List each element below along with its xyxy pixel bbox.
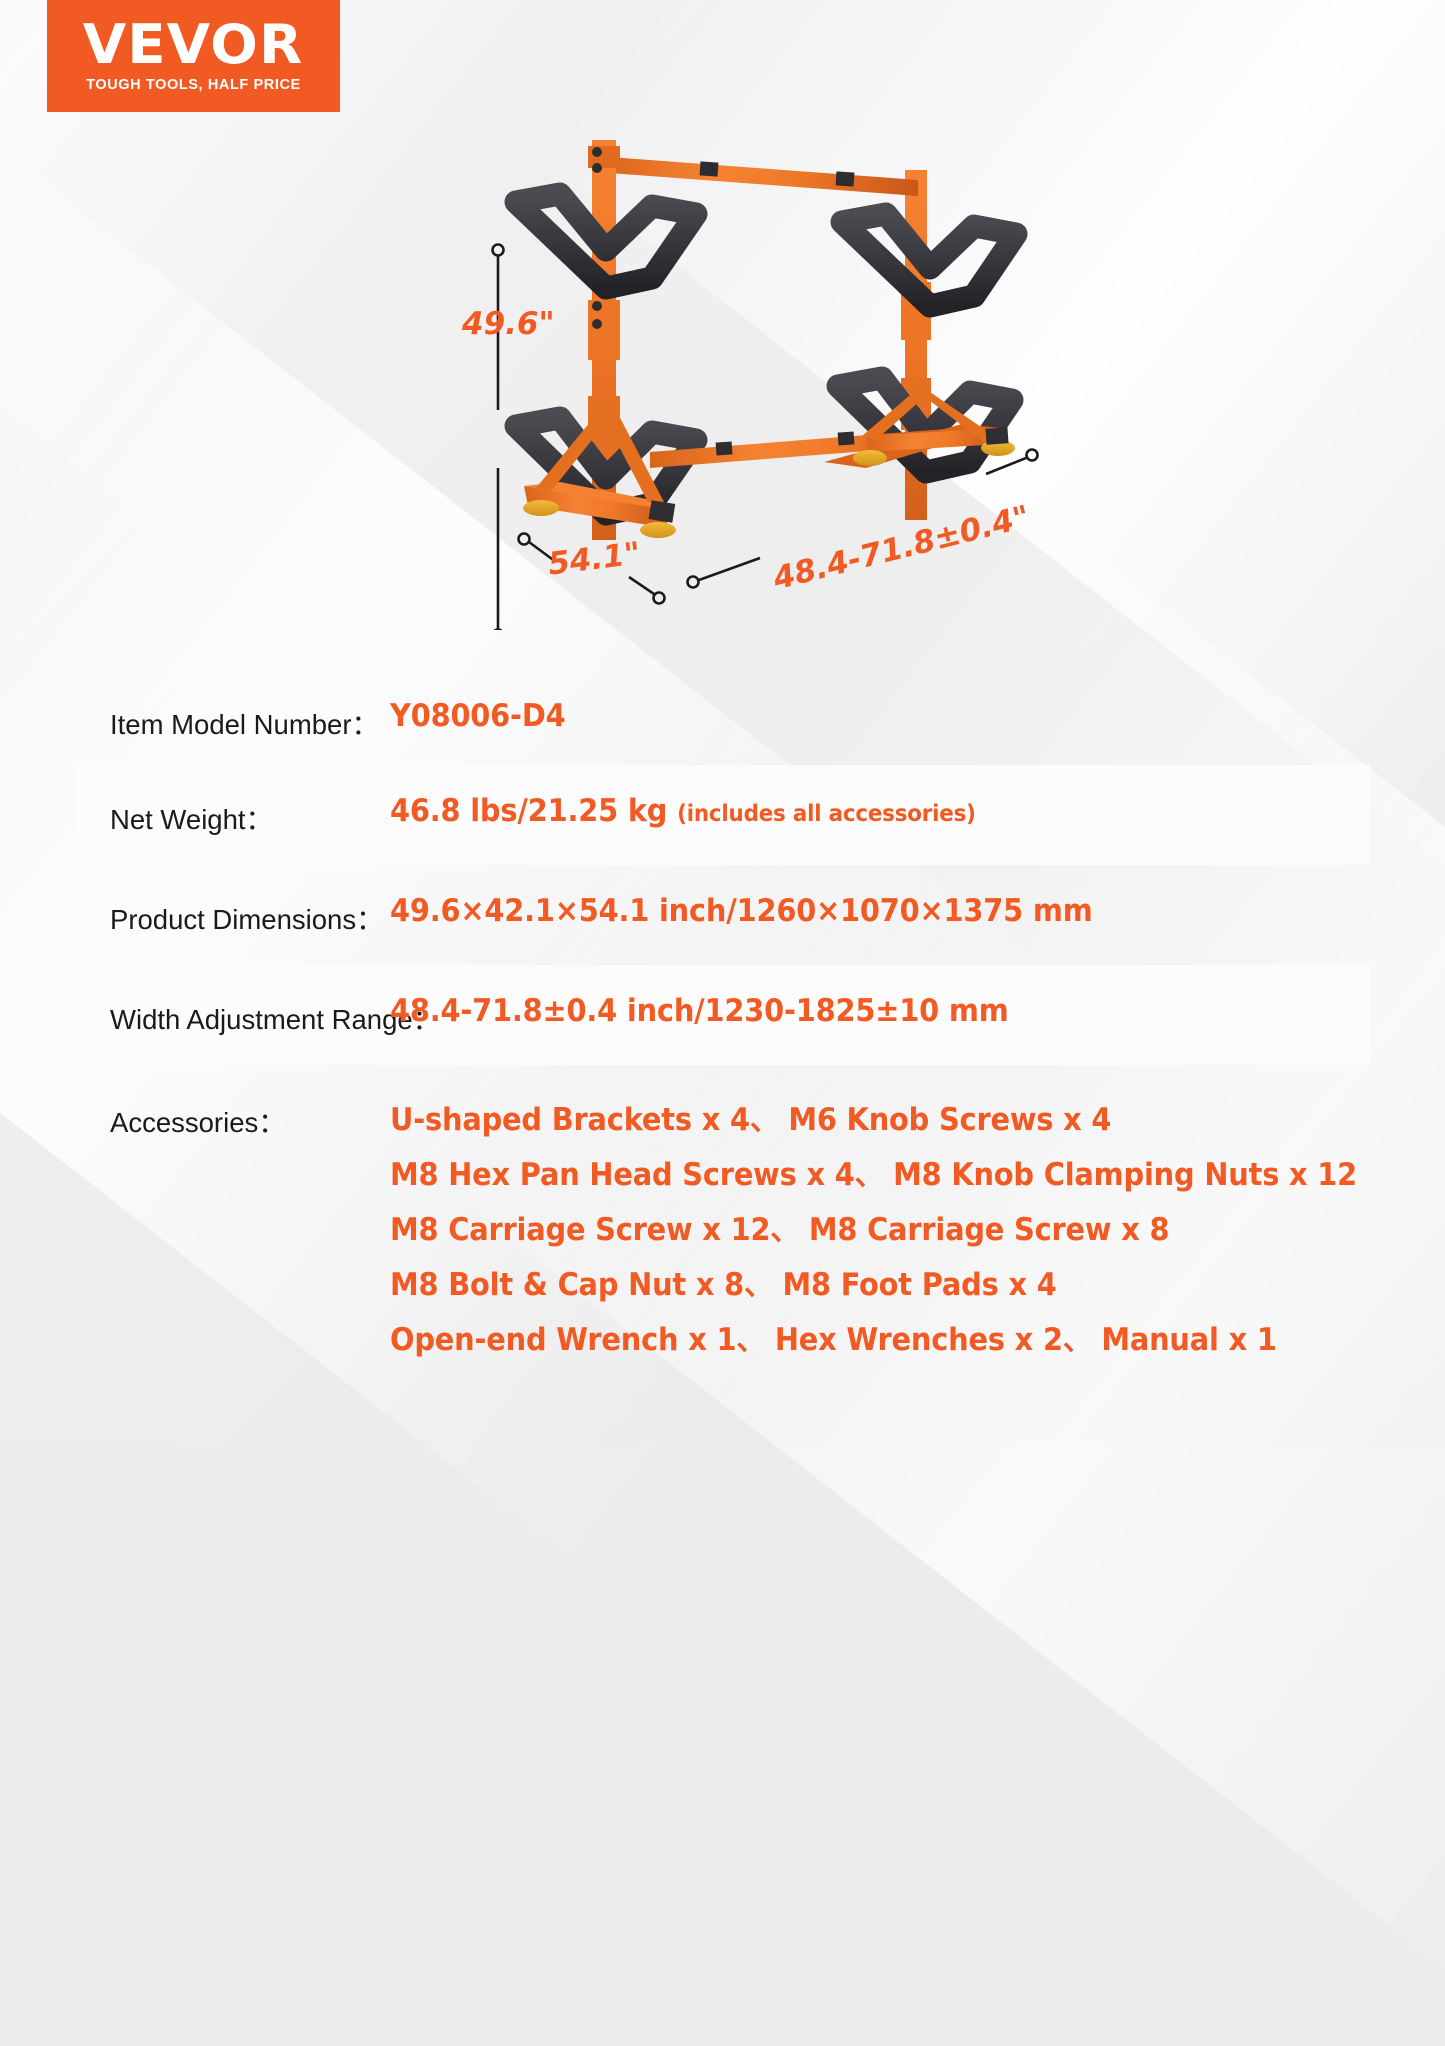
spec-value-accessories: U-shaped Brackets x 4、 M6 Knob Screws x … (390, 1065, 1357, 1368)
brand-tagline: TOUGH TOOLS, HALF PRICE (86, 77, 301, 93)
spec-row-accessories: Accessories： U-shaped Brackets x 4、 M6 K… (0, 1065, 1445, 1365)
spec-row-net-weight: Net Weight： 46.8 lbs/21.25 kg (includes … (0, 765, 1445, 865)
spec-table: Item Model Number： Y08006-D4 Net Weight：… (0, 660, 1445, 1365)
accessory-line: M8 Carriage Screw x 12、 M8 Carriage Scre… (390, 1203, 1357, 1258)
spec-value-width-adjustment-range: 48.4-71.8±0.4 inch/1230-1825±10 mm (390, 965, 1009, 1029)
spec-label-width-adjustment-range: Width Adjustment Range： (0, 965, 390, 1037)
spec-row-width-adjustment-range: Width Adjustment Range： 48.4-71.8±0.4 in… (0, 965, 1445, 1065)
spec-label-accessories: Accessories： (0, 1065, 390, 1140)
accessory-line: U-shaped Brackets x 4、 M6 Knob Screws x … (390, 1093, 1357, 1148)
spec-label-product-dimensions: Product Dimensions： (0, 865, 390, 937)
accessory-line: M8 Hex Pan Head Screws x 4、 M8 Knob Clam… (390, 1148, 1357, 1203)
spec-value-model-number: Y08006-D4 (390, 660, 565, 734)
accessory-line: M8 Bolt & Cap Nut x 8、 M8 Foot Pads x 4 (390, 1258, 1357, 1313)
brand-wordmark: VEVOR (83, 19, 303, 70)
spec-label-net-weight: Net Weight： (0, 765, 390, 837)
spec-value-net-weight: 46.8 lbs/21.25 kg (includes all accessor… (390, 765, 976, 829)
accessory-line: Open-end Wrench x 1、 Hex Wrenches x 2、 M… (390, 1313, 1357, 1368)
net-weight-number: 46.8 lbs/21.25 kg (390, 793, 667, 829)
spec-row-model-number: Item Model Number： Y08006-D4 (0, 660, 1445, 765)
spec-row-product-dimensions: Product Dimensions： 49.6×42.1×54.1 inch/… (0, 865, 1445, 965)
net-weight-note: (includes all accessories) (677, 801, 976, 827)
dimension-label-height: 49.6" (462, 306, 555, 342)
product-illustration (0, 110, 1445, 630)
spec-label-model-number: Item Model Number： (0, 660, 390, 742)
vevor-logo: VEVOR TOUGH TOOLS, HALF PRICE (47, 0, 340, 112)
spec-value-product-dimensions: 49.6×42.1×54.1 inch/1260×1070×1375 mm (390, 865, 1093, 929)
